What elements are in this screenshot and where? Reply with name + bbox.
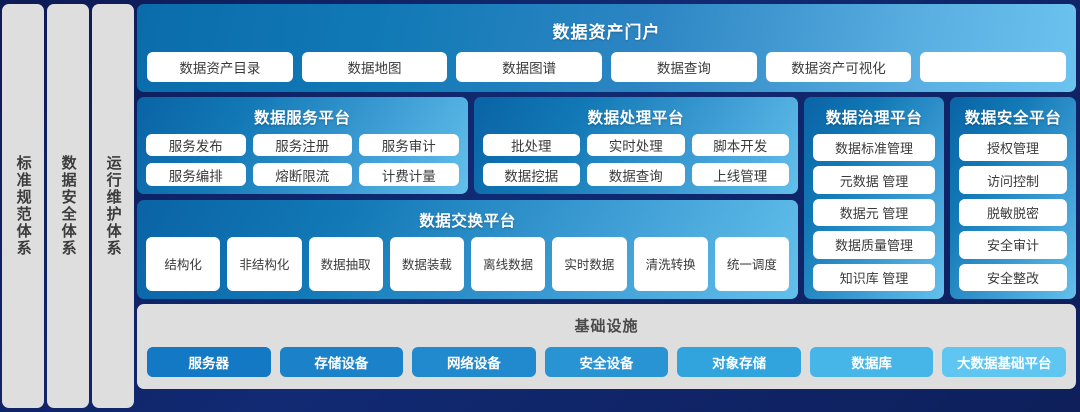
- platform-left-column: 数据服务平台 服务发布 服务注册 服务审计 服务编排 熔断限流 计费计量 数据处…: [137, 97, 798, 299]
- exchange-item-unstructured[interactable]: 非结构化: [227, 237, 301, 291]
- governance-item-metadata[interactable]: 元数据 管理: [813, 166, 935, 193]
- platform-title: 数据交换平台: [146, 209, 789, 231]
- security-item-authorization[interactable]: 授权管理: [959, 134, 1067, 161]
- platform-item-grid: 结构化 非结构化 数据抽取 数据装载 离线数据 实时数据 清洗转换 统一调度: [146, 237, 789, 291]
- governance-item-data-element[interactable]: 数据元 管理: [813, 199, 935, 226]
- security-item-rectification[interactable]: 安全整改: [959, 264, 1067, 291]
- service-item-circuit-breaker[interactable]: 熔断限流: [253, 163, 353, 186]
- sidebar-item-standards-system[interactable]: 标准规范体系: [2, 4, 44, 408]
- infra-item-bigdata-platform[interactable]: 大数据基础平台: [942, 347, 1066, 377]
- platform-item-grid: 数据标准管理 元数据 管理 数据元 管理 数据质量管理 知识库 管理: [813, 134, 935, 291]
- platform-top-row: 数据服务平台 服务发布 服务注册 服务审计 服务编排 熔断限流 计费计量 数据处…: [137, 97, 798, 194]
- platform-title: 数据治理平台: [813, 106, 935, 128]
- infra-item-server[interactable]: 服务器: [147, 347, 271, 377]
- portal-item-catalog[interactable]: 数据资产目录: [147, 52, 293, 82]
- service-item-audit[interactable]: 服务审计: [359, 134, 459, 156]
- sidebar-item-data-security-system[interactable]: 数据安全体系: [47, 4, 89, 408]
- processing-item-mining[interactable]: 数据挖据: [483, 163, 580, 186]
- data-security-platform-panel: 数据安全平台 授权管理 访问控制 脱敏脱密 安全审计 安全整改: [950, 97, 1076, 299]
- platform-band: 数据服务平台 服务发布 服务注册 服务审计 服务编排 熔断限流 计费计量 数据处…: [137, 97, 1076, 299]
- data-processing-platform-panel: 数据处理平台 批处理 实时处理 脚本开发 数据挖据 数据查询 上线管理: [474, 97, 798, 194]
- main-stack: 数据资产门户 数据资产目录 数据地图 数据图谱 数据查询 数据资产可视化 数据服…: [137, 4, 1076, 408]
- data-asset-portal-panel: 数据资产门户 数据资产目录 数据地图 数据图谱 数据查询 数据资产可视化: [137, 4, 1076, 92]
- governance-item-data-quality[interactable]: 数据质量管理: [813, 231, 935, 258]
- infra-item-network[interactable]: 网络设备: [412, 347, 536, 377]
- infrastructure-item-row: 服务器 存储设备 网络设备 安全设备 对象存储 数据库 大数据基础平台: [147, 344, 1066, 380]
- infrastructure-panel: 基础设施 服务器 存储设备 网络设备 安全设备 对象存储 数据库 大数据基础平台: [137, 304, 1076, 389]
- portal-item-empty[interactable]: [920, 52, 1066, 82]
- sidebar-item-label: 数据安全体系: [59, 155, 76, 257]
- processing-item-batch[interactable]: 批处理: [483, 134, 580, 156]
- processing-item-script-dev[interactable]: 脚本开发: [692, 134, 789, 156]
- governance-item-knowledge-base[interactable]: 知识库 管理: [813, 264, 935, 291]
- platform-title: 数据处理平台: [483, 106, 789, 128]
- service-item-register[interactable]: 服务注册: [253, 134, 353, 156]
- portal-title: 数据资产门户: [147, 18, 1066, 43]
- processing-item-query[interactable]: 数据查询: [587, 163, 684, 186]
- platform-item-grid: 服务发布 服务注册 服务审计 服务编排 熔断限流 计费计量: [146, 134, 459, 186]
- data-governance-platform-panel: 数据治理平台 数据标准管理 元数据 管理 数据元 管理 数据质量管理 知识库 管…: [804, 97, 944, 299]
- service-item-billing[interactable]: 计费计量: [359, 163, 459, 186]
- portal-item-query[interactable]: 数据查询: [611, 52, 757, 82]
- exchange-item-realtime-data[interactable]: 实时数据: [552, 237, 626, 291]
- exchange-item-cleansing[interactable]: 清洗转换: [634, 237, 708, 291]
- infrastructure-title: 基础设施: [147, 315, 1066, 336]
- infra-item-security-device[interactable]: 安全设备: [545, 347, 669, 377]
- platform-item-grid: 批处理 实时处理 脚本开发 数据挖据 数据查询 上线管理: [483, 134, 789, 186]
- security-item-access-control[interactable]: 访问控制: [959, 166, 1067, 193]
- exchange-item-scheduling[interactable]: 统一调度: [715, 237, 789, 291]
- processing-item-release-mgmt[interactable]: 上线管理: [692, 163, 789, 186]
- sidebar-item-label: 运行维护体系: [104, 155, 121, 257]
- infra-item-database[interactable]: 数据库: [810, 347, 934, 377]
- exchange-item-extract[interactable]: 数据抽取: [309, 237, 383, 291]
- architecture-diagram: 标准规范体系 数据安全体系 运行维护体系 数据资产门户 数据资产目录 数据地图 …: [0, 0, 1080, 412]
- platform-title: 数据安全平台: [959, 106, 1067, 128]
- data-service-platform-panel: 数据服务平台 服务发布 服务注册 服务审计 服务编排 熔断限流 计费计量: [137, 97, 468, 194]
- portal-item-row: 数据资产目录 数据地图 数据图谱 数据查询 数据资产可视化: [147, 52, 1066, 82]
- infra-item-object-storage[interactable]: 对象存储: [677, 347, 801, 377]
- service-item-orchestration[interactable]: 服务编排: [146, 163, 246, 186]
- exchange-item-load[interactable]: 数据装载: [390, 237, 464, 291]
- service-item-publish[interactable]: 服务发布: [146, 134, 246, 156]
- governance-item-data-standard[interactable]: 数据标准管理: [813, 134, 935, 161]
- exchange-item-offline-data[interactable]: 离线数据: [471, 237, 545, 291]
- data-exchange-platform-panel: 数据交换平台 结构化 非结构化 数据抽取 数据装载 离线数据 实时数据 清洗转换…: [137, 200, 798, 299]
- platform-item-grid: 授权管理 访问控制 脱敏脱密 安全审计 安全整改: [959, 134, 1067, 291]
- sidebar-item-label: 标准规范体系: [14, 155, 31, 257]
- processing-item-realtime[interactable]: 实时处理: [587, 134, 684, 156]
- portal-item-map[interactable]: 数据地图: [302, 52, 448, 82]
- portal-item-visualization[interactable]: 数据资产可视化: [766, 52, 912, 82]
- security-item-desensitization[interactable]: 脱敏脱密: [959, 199, 1067, 226]
- platform-title: 数据服务平台: [146, 106, 459, 128]
- security-item-audit[interactable]: 安全审计: [959, 231, 1067, 258]
- sidebar-item-operations-maintenance-system[interactable]: 运行维护体系: [92, 4, 134, 408]
- portal-item-graph[interactable]: 数据图谱: [456, 52, 602, 82]
- exchange-item-structured[interactable]: 结构化: [146, 237, 220, 291]
- infra-item-storage[interactable]: 存储设备: [280, 347, 404, 377]
